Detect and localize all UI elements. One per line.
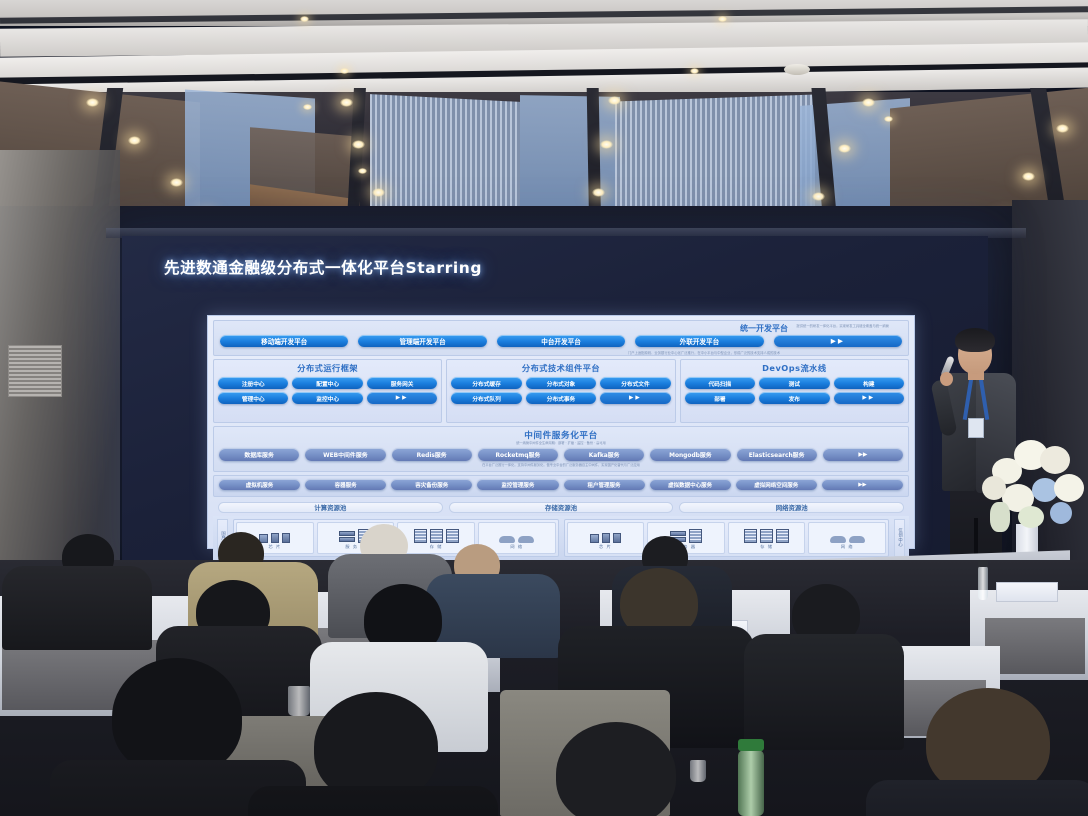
presenter-hair	[955, 328, 995, 352]
tier-pill-row-unified: 移动端开发平台 管理端开发平台 中台开发平台 外联开发平台 ▶▶	[220, 335, 902, 347]
hardware-cell-storage: 存 储	[728, 522, 806, 554]
ceiling-downlight	[838, 144, 851, 153]
pill-management-center: 管理中心	[218, 392, 288, 404]
pill-more-devops: ▶▶	[834, 392, 904, 404]
pill-release: 发布	[759, 392, 829, 404]
tier-resource-pools: 计算资源池 存储资源池 网络资源池	[213, 500, 909, 516]
pill-kafka-service: Kafka服务	[564, 448, 644, 461]
bottle-cap	[978, 560, 988, 567]
conference-room-scene: 先进数通金融级分布式一体化平台Starring 统一开发平台 提供统一的研发一体…	[0, 0, 1088, 816]
ceiling-downlight	[592, 188, 605, 197]
presenter-hand	[940, 372, 953, 386]
pill-storage-resource-pool: 存储资源池	[449, 502, 674, 513]
tier-header-note-middleware: 统一纳管中间件全生命周期：部署 · 扩缩 · 监控 · 备份 · 高可用	[246, 441, 875, 446]
slide-architecture-diagram: 统一开发平台 提供统一的研发一体化平台，实现研发工具链全覆盖与统一纳管 移动端开…	[207, 315, 915, 549]
pill-mongodb-service: Mongodb服务	[650, 448, 730, 461]
pill-admin-dev-platform: 管理端开发平台	[358, 335, 486, 347]
pill-build: 构建	[834, 377, 904, 389]
pill-distributed-file: 分布式文件	[600, 377, 670, 389]
ceiling-downlight	[372, 188, 385, 197]
pill-service-gateway: 服务网关	[367, 377, 437, 389]
ceiling-smoke-detector	[784, 64, 810, 75]
pill-distributed-queue: 分布式队列	[451, 392, 521, 404]
water-glass	[288, 686, 310, 716]
pill-dr-backup-service: 容灾备份服务	[391, 479, 472, 490]
pill-virtual-network-service: 虚拟网络空间服务	[736, 479, 817, 490]
body	[866, 780, 1088, 816]
audience-member-front	[258, 700, 488, 816]
body	[248, 786, 498, 816]
flower	[1054, 474, 1084, 502]
pill-elasticsearch-service: Elasticsearch服务	[737, 448, 817, 461]
flower	[1040, 446, 1070, 474]
water-bottle	[978, 566, 988, 600]
pill-more-runtime: ▶▶	[367, 392, 437, 404]
ceiling-downlight	[812, 192, 825, 201]
bottle-cap	[738, 739, 764, 751]
pill-registry-center: 注册中心	[218, 377, 288, 389]
network-icon	[499, 527, 534, 543]
hardware-right-tab: 信创中心	[894, 519, 905, 557]
ceiling-downlight	[600, 140, 613, 149]
ceiling-downlight	[884, 116, 893, 122]
tier-foot-middleware: 在平台广泛推行一体化，支持中间件服务化，做专业中台的广泛服务器自主中间件，实现国…	[246, 463, 875, 468]
ceiling-downlight	[303, 104, 312, 110]
presenter-badge	[968, 418, 984, 438]
pill-more-middleware: ▶▶	[823, 448, 903, 461]
pill-redis-service: Redis服务	[392, 448, 472, 461]
foliage	[990, 502, 1010, 532]
head	[112, 658, 242, 776]
ceiling-downlight	[1022, 172, 1035, 181]
tier-note-unified: 门户上适配原则、业务银行业中心化广泛推行，在中小平台与中型企业，形成广泛的技术支…	[511, 351, 897, 355]
pill-config-center: 配置中心	[292, 377, 362, 389]
column-devops-pipeline: DevOps流水线 代码扫描 测试 构建 部署 发布 ▶▶	[680, 359, 909, 423]
column-grid-devops: 代码扫描 测试 构建 部署 发布 ▶▶	[685, 377, 904, 404]
tier-header-middleware: 中间件服务化平台	[219, 429, 903, 441]
hardware-right-tab-label: 信创中心	[897, 528, 903, 547]
ceiling-downlight-trim	[340, 68, 349, 74]
table-runner	[985, 618, 1085, 674]
tier-pill-row-virtualization: 虚拟机服务 容器服务 容灾备份服务 监控管理服务 租户管理服务 虚拟数据中心服务…	[219, 479, 903, 490]
audience-member	[0, 536, 156, 646]
pill-web-middleware-service: WEB中间件服务	[305, 448, 385, 461]
pill-compute-resource-pool: 计算资源池	[218, 502, 443, 513]
ceiling-downlight	[352, 140, 365, 149]
pill-monitoring-mgmt-service: 监控管理服务	[477, 479, 558, 490]
audience-member-front	[506, 726, 726, 816]
flower	[982, 476, 1006, 500]
ceiling-downlight-trim	[300, 16, 309, 22]
pill-distributed-transaction: 分布式事务	[526, 392, 596, 404]
pill-more-unified: ▶▶	[774, 335, 902, 347]
pill-external-dev-platform: 外联开发平台	[635, 335, 763, 347]
column-header-devops: DevOps流水线	[685, 362, 904, 374]
column-distributed-runtime-framework: 分布式运行框架 注册中心 配置中心 服务网关 管理中心 监控中心 ▶▶	[213, 359, 442, 423]
pill-vm-service: 虚拟机服务	[219, 479, 300, 490]
pill-monitoring-center: 监控中心	[292, 392, 362, 404]
ceiling-downlight	[862, 98, 875, 107]
pill-rocketmq-service: Rocketmq服务	[478, 448, 558, 461]
slide-title: 先进数通金融级分布式一体化平台Starring	[164, 256, 482, 278]
pill-more-virtualization: ▶▶	[822, 479, 903, 490]
column-grid-components: 分布式缓存 分布式对象 分布式文件 分布式队列 分布式事务 ▶▶	[451, 377, 670, 404]
column-grid-runtime: 注册中心 配置中心 服务网关 管理中心 监控中心 ▶▶	[218, 377, 437, 404]
pill-distributed-object: 分布式对象	[526, 377, 596, 389]
pill-tenant-mgmt-service: 租户管理服务	[564, 479, 645, 490]
flower-arrangement	[988, 432, 1088, 552]
water-bottle-front	[738, 750, 764, 816]
audience-member-front	[876, 694, 1088, 816]
pill-distributed-cache: 分布式缓存	[451, 377, 521, 389]
network-icon	[830, 527, 865, 543]
pill-virtual-datacenter-service: 虚拟数据中心服务	[650, 479, 731, 490]
pill-midplatform-dev-platform: 中台开发平台	[497, 335, 625, 347]
projected-slide: 先进数通金融级分布式一体化平台Starring 统一开发平台 提供统一的研发一体…	[122, 236, 988, 566]
ceiling-downlight-trim	[690, 68, 699, 74]
tier-row-frameworks: 分布式运行框架 注册中心 配置中心 服务网关 管理中心 监控中心 ▶▶ 分布式技…	[213, 359, 909, 423]
storage-icon	[744, 527, 789, 543]
ceiling-downlight-trim	[718, 16, 727, 22]
pill-container-service: 容器服务	[305, 479, 386, 490]
tier-header-note-unified: 提供统一的研发一体化平台，实现研发工具链全覆盖与统一纳管	[796, 324, 897, 329]
pill-network-resource-pool: 网络资源池	[679, 502, 904, 513]
column-header-runtime: 分布式运行框架	[218, 362, 437, 374]
pill-code-scan: 代码扫描	[685, 377, 755, 389]
ceiling-downlight	[340, 98, 353, 107]
ceiling-downlight	[170, 178, 183, 187]
column-distributed-tech-components: 分布式技术组件平台 分布式缓存 分布式对象 分布式文件 分布式队列 分布式事务 …	[446, 359, 675, 423]
name-card	[996, 582, 1058, 602]
column-header-components: 分布式技术组件平台	[451, 362, 670, 374]
hardware-cell-label: 芯 片	[599, 544, 612, 550]
tier-middleware-service-platform: 中间件服务化平台 统一纳管中间件全生命周期：部署 · 扩缩 · 监控 · 备份 …	[213, 426, 909, 472]
tier-pill-row-middleware: 数据库服务 WEB中间件服务 Redis服务 Rocketmq服务 Kafka服…	[219, 448, 903, 461]
flower-blue	[1050, 502, 1072, 524]
ceiling-downlight	[608, 96, 621, 105]
name-card-text	[1025, 588, 1029, 596]
flower-green	[1018, 506, 1044, 528]
ceiling	[0, 0, 1088, 232]
tier-unified-dev-platform: 统一开发平台 提供统一的研发一体化平台，实现研发工具链全覆盖与统一纳管 移动端开…	[213, 320, 909, 356]
hardware-cell-label: 存 储	[760, 544, 773, 550]
tier-header-unified: 统一开发平台	[740, 323, 788, 334]
hardware-cell-network: 网 络	[808, 522, 886, 554]
pill-deploy: 部署	[685, 392, 755, 404]
ceiling-slat-panel-2	[615, 95, 815, 222]
hardware-cell-label: 网 络	[841, 544, 854, 550]
pill-more-components: ▶▶	[600, 392, 670, 404]
pill-database-service: 数据库服务	[219, 448, 299, 461]
ceiling-downlight	[86, 98, 99, 107]
ceiling-downlight	[1056, 124, 1069, 133]
pill-mobile-dev-platform: 移动端开发平台	[220, 335, 348, 347]
ceiling-downlight	[128, 136, 141, 145]
wall-vent-icon	[8, 345, 62, 397]
head	[556, 722, 676, 816]
tier-virtualization-services: 虚拟机服务 容器服务 容灾备份服务 监控管理服务 租户管理服务 虚拟数据中心服务…	[213, 475, 909, 497]
body	[2, 566, 152, 650]
pill-test: 测试	[759, 377, 829, 389]
ceiling-downlight	[358, 168, 367, 174]
